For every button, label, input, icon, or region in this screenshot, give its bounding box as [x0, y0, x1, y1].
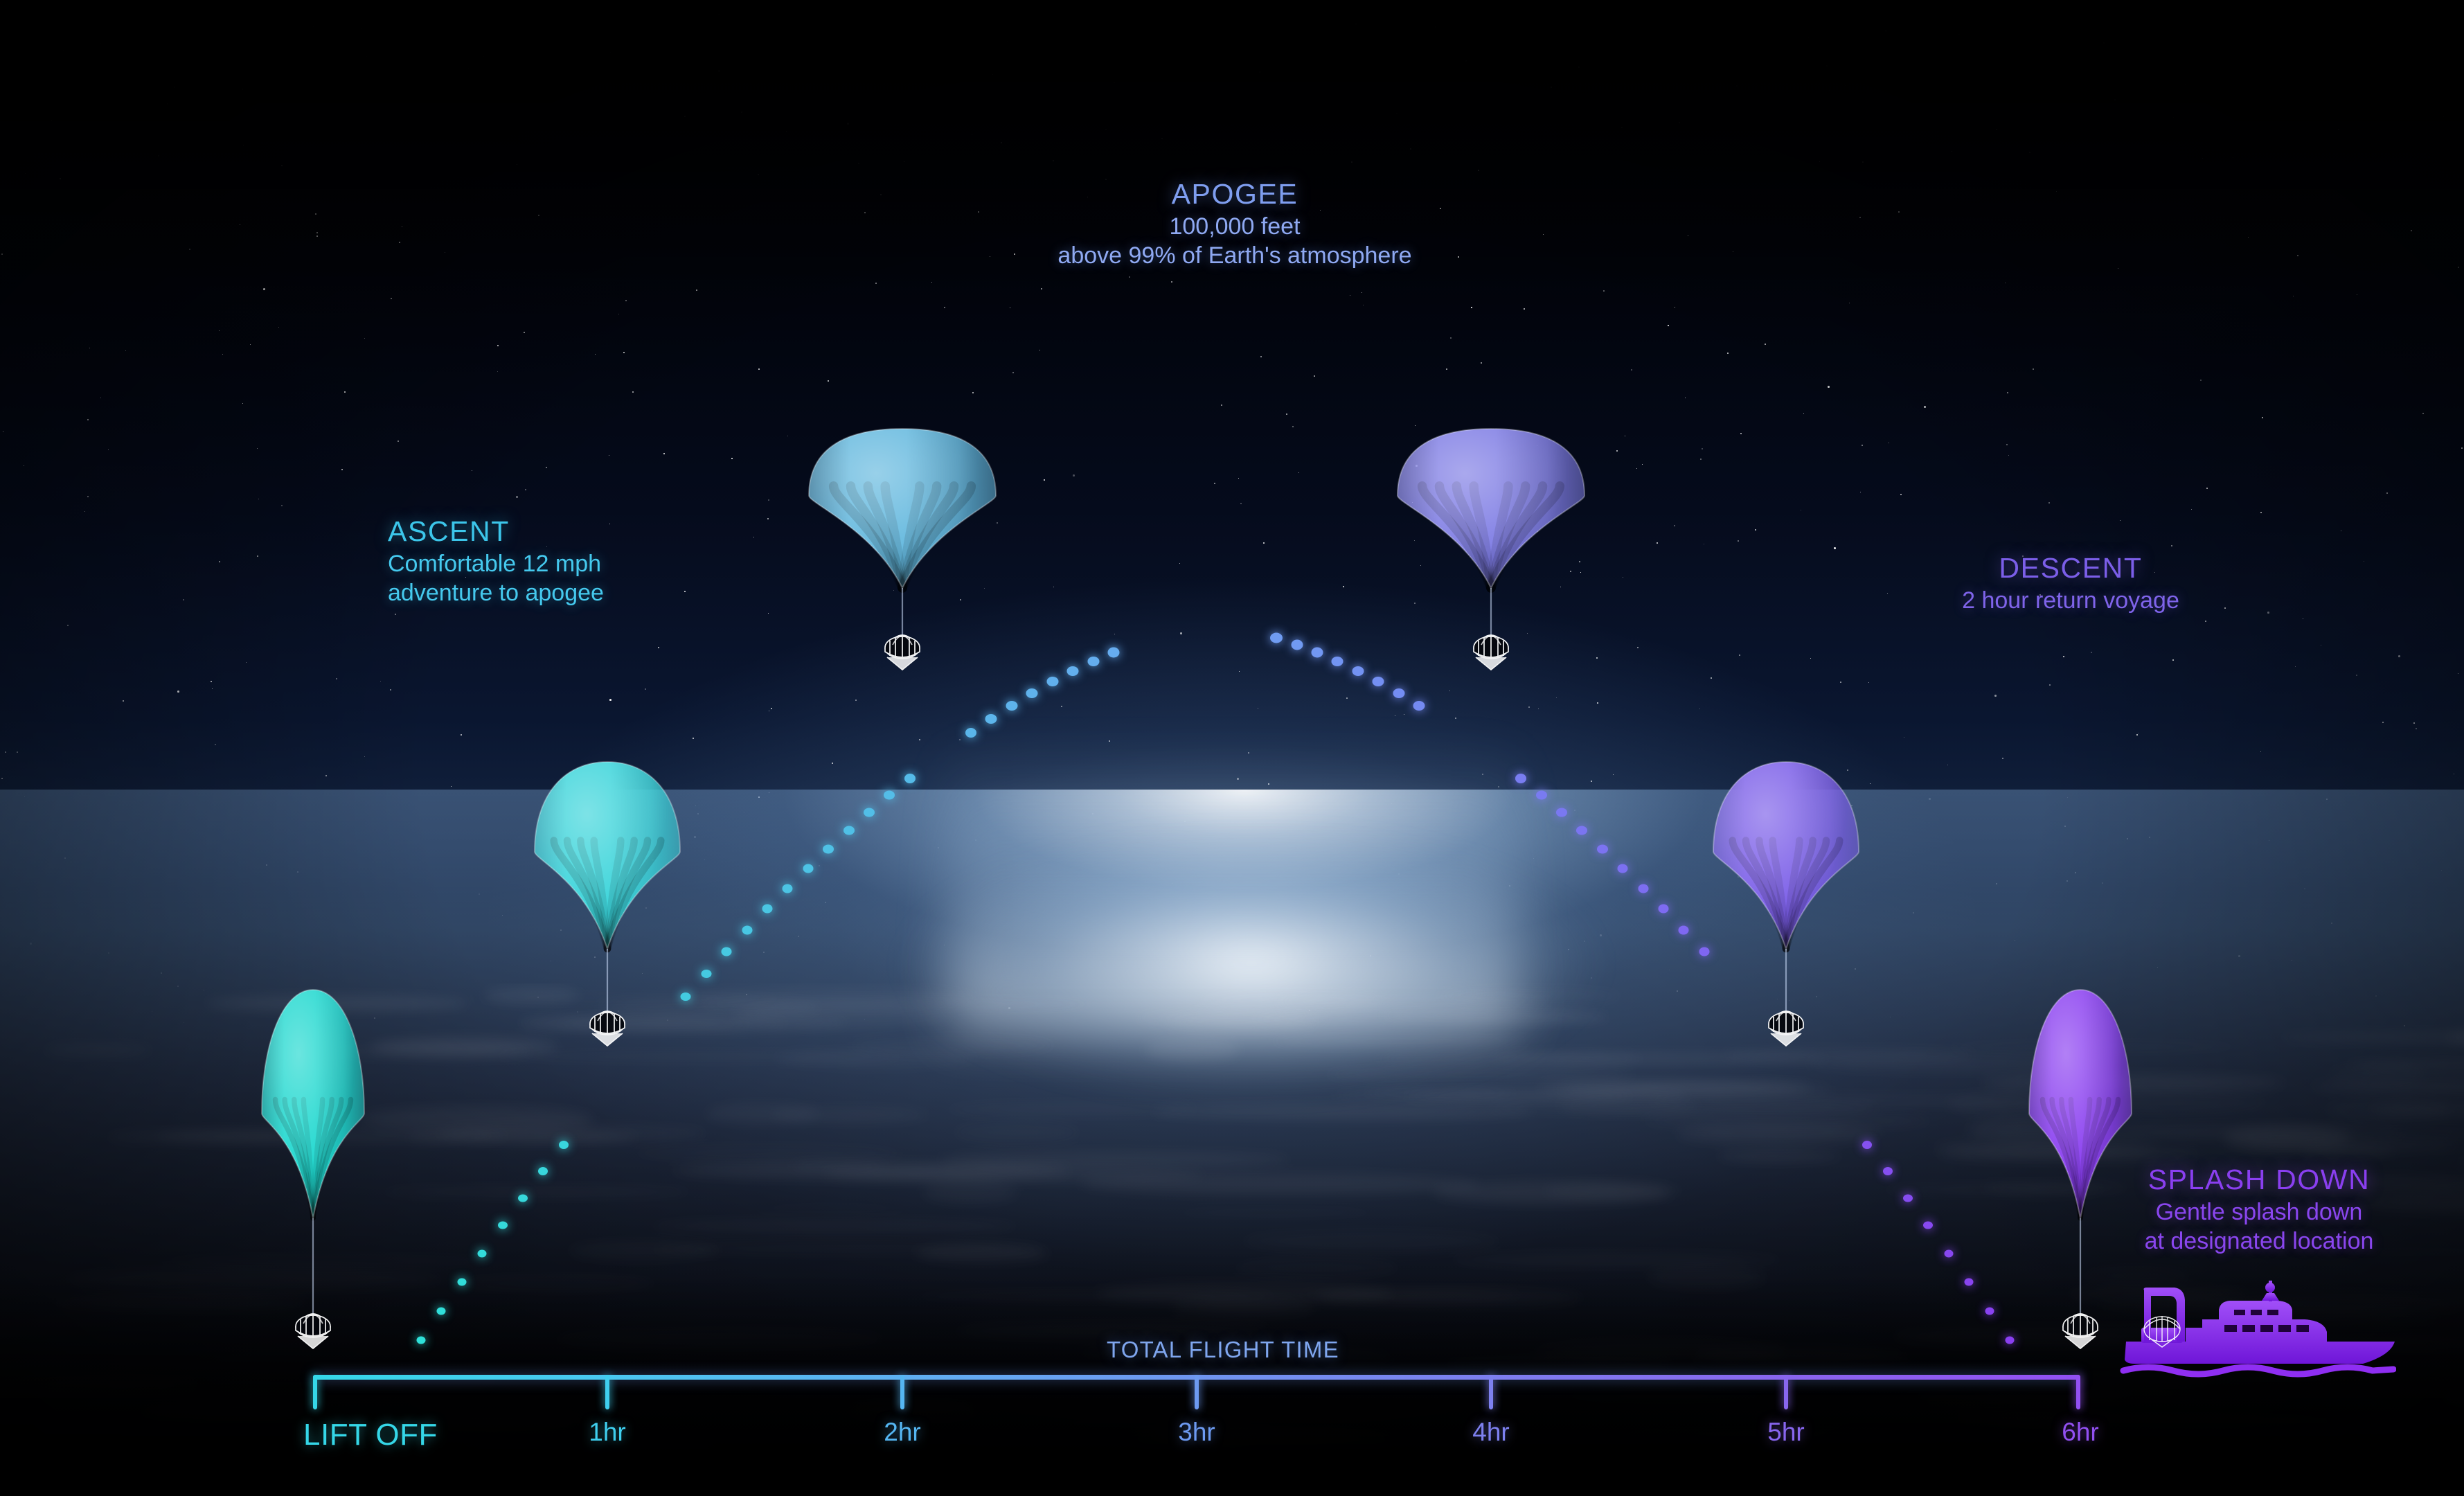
flight-path-dot [1945, 1250, 1954, 1258]
timeline-title: TOTAL FLIGHT TIME [1107, 1337, 1339, 1363]
flight-path-dot [1292, 640, 1303, 650]
ascent-line-1: Comfortable 12 mph [388, 549, 604, 578]
flight-path-dot [1883, 1167, 1893, 1175]
ascent-heading: ASCENT [388, 514, 604, 549]
flight-path-dot [884, 791, 895, 800]
flight-path-dot [538, 1167, 548, 1175]
flight-path-dot [1679, 926, 1689, 935]
timeline-tick-label-5hr: 5hr [1767, 1418, 1804, 1447]
space-capsule-icon [590, 1011, 625, 1046]
flight-path-dot [1352, 666, 1364, 676]
balloon-envelope [809, 429, 996, 588]
balloon-envelope [535, 762, 680, 949]
flight-path-dot [1047, 677, 1059, 686]
flight-path-dot [1659, 905, 1669, 914]
flight-path-dot [864, 808, 875, 817]
flight-path-dot [1413, 701, 1425, 711]
splashdown-heading: SPLASH DOWN [2145, 1162, 2374, 1197]
flight-path-dot [1393, 688, 1405, 698]
flight-path-dot [742, 926, 753, 935]
flight-path-dot [843, 826, 855, 835]
flight-path-dot [417, 1337, 426, 1344]
flight-path-dot [1373, 677, 1384, 686]
flight-path-dot [1965, 1279, 1974, 1286]
flight-path-dot [965, 728, 976, 738]
flight-path-dot [1332, 657, 1343, 666]
descent-heading: DESCENT [1962, 551, 2179, 586]
space-capsule-icon [885, 635, 920, 670]
balloon-envelope [2029, 990, 2132, 1218]
flight-path-dot [1639, 884, 1649, 893]
flight-path-dot [823, 845, 834, 854]
timeline-tick-5hr [1784, 1375, 1788, 1409]
space-capsule-icon [2063, 1314, 2098, 1348]
infographic-canvas: ASCENT Comfortable 12 mph adventure to a… [0, 0, 2464, 1496]
flight-path-dot [1618, 864, 1628, 873]
flight-path-dot [1903, 1195, 1913, 1202]
apogee-heading: APOGEE [1057, 177, 1411, 212]
balloon-descent [1699, 762, 1873, 1061]
space-capsule-icon [1474, 635, 1508, 670]
timeline-tick-2hr [900, 1375, 904, 1409]
flight-path-dot [1515, 774, 1526, 783]
ascent-line-2: adventure to apogee [388, 578, 604, 607]
apogee-line-1: 100,000 feet [1057, 212, 1411, 241]
flight-path-dot [1108, 648, 1120, 658]
flight-path-dot [904, 774, 916, 783]
timeline-tick-0hr [313, 1375, 317, 1409]
timeline-tick-label-1hr: 1hr [589, 1418, 625, 1447]
flight-path-dot [1026, 688, 1038, 698]
flight-path-dot [437, 1308, 446, 1315]
timeline-tick-6hr [2076, 1375, 2080, 1409]
flight-path-dot [702, 970, 712, 978]
descent-line-1: 2 hour return voyage [1962, 586, 2179, 615]
timeline-tick-1hr [605, 1375, 609, 1409]
timeline-tick-label-0hr: LIFT OFF [303, 1418, 438, 1452]
label-apogee: APOGEE 100,000 feet above 99% of Earth's… [1057, 177, 1411, 270]
balloon-envelope [1398, 429, 1584, 588]
label-descent: DESCENT 2 hour return voyage [1962, 551, 2179, 615]
timeline-tick-label-2hr: 2hr [884, 1418, 920, 1447]
flight-path-dot [1270, 633, 1283, 643]
balloon-liftoff [248, 990, 378, 1364]
apogee-line-2: above 99% of Earth's atmosphere [1057, 241, 1411, 270]
label-ascent: ASCENT Comfortable 12 mph adventure to a… [388, 514, 604, 607]
timeline-tick-label-6hr: 6hr [2062, 1418, 2098, 1447]
balloon-apogee-left [795, 429, 1010, 685]
flight-path-dot [762, 905, 773, 914]
flight-path-dot [518, 1195, 528, 1202]
balloon-envelope [262, 990, 364, 1218]
flight-path-dot [1597, 845, 1608, 854]
flight-path-dot [458, 1279, 467, 1286]
flight-path-dot [559, 1141, 569, 1149]
flight-path-dot [1985, 1308, 1994, 1315]
flight-path-dot [985, 714, 997, 724]
recovery-ship-icon [2119, 1278, 2396, 1385]
flight-path-dot [1088, 657, 1100, 666]
balloon-envelope [1713, 762, 1859, 949]
flight-path-dot [783, 884, 793, 893]
timeline-tick-3hr [1195, 1375, 1199, 1409]
label-splashdown: SPLASH DOWN Gentle splash down at design… [2145, 1162, 2374, 1256]
flight-path-dot [722, 947, 732, 956]
flight-path-dot [498, 1222, 508, 1229]
timeline-tick-4hr [1489, 1375, 1493, 1409]
balloon-ascent [521, 762, 694, 1061]
flight-path-dot [2006, 1337, 2015, 1344]
flight-path-dot [1312, 648, 1323, 658]
flight-path-dot [478, 1250, 487, 1258]
flight-path-dot [1576, 826, 1587, 835]
balloon-apogee-right [1384, 429, 1598, 685]
timeline-tick-label-4hr: 4hr [1472, 1418, 1509, 1447]
flight-path-dot [1067, 666, 1079, 676]
flight-time-axis: TOTAL FLIGHT TIME LIFT OFF1hr2hr3hr4hr5h… [0, 1375, 2464, 1496]
flight-path-dot [1536, 791, 1547, 800]
flight-path-dot [803, 864, 814, 873]
splashdown-line-1: Gentle splash down [2145, 1197, 2374, 1227]
timeline-tick-label-3hr: 3hr [1178, 1418, 1215, 1447]
flight-path-dot [1556, 808, 1567, 817]
flight-path-dot [1923, 1222, 1933, 1229]
space-capsule-icon [1769, 1011, 1803, 1046]
flight-path-dot [1862, 1141, 1872, 1149]
flight-path-dot [1006, 701, 1018, 711]
space-capsule-icon [296, 1314, 330, 1348]
splashdown-line-2: at designated location [2145, 1227, 2374, 1256]
